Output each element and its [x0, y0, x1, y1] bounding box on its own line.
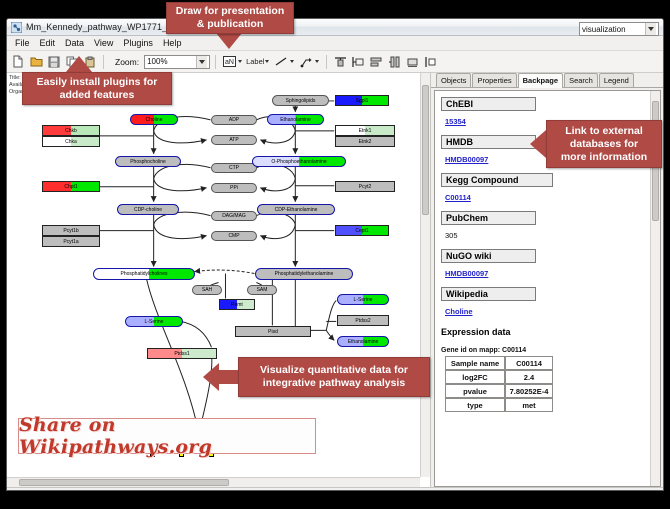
visualization-combobox[interactable]: visualization — [579, 22, 659, 36]
new-file-icon[interactable] — [10, 54, 26, 70]
order-icon[interactable] — [422, 54, 438, 70]
table-cell-value: met — [505, 398, 553, 412]
tab-backpage[interactable]: Backpage — [518, 73, 563, 88]
node-label: CDP-choline — [134, 207, 162, 213]
label-tool[interactable]: Label — [246, 57, 271, 66]
scrollbar-thumb[interactable] — [422, 85, 429, 215]
node-adp: ADP — [211, 115, 257, 125]
menu-data[interactable]: Data — [60, 37, 89, 49]
node-ppi: PPi — [211, 183, 257, 193]
node-pcyt1a[interactable]: Pcyt1a — [42, 236, 100, 247]
toolbar: Zoom: 100% aN Label — [7, 51, 663, 73]
table-cell-value: 2.4 — [505, 370, 553, 384]
node-label: CMP — [228, 233, 239, 239]
menu-file[interactable]: File — [10, 37, 35, 49]
node-sgpl1[interactable]: Sgpl1 — [335, 95, 389, 106]
save-file-icon[interactable] — [46, 54, 62, 70]
open-file-icon[interactable] — [28, 54, 44, 70]
tab-properties[interactable]: Properties — [472, 73, 516, 87]
align-left-icon[interactable] — [350, 54, 366, 70]
menu-plugins[interactable]: Plugins — [118, 37, 158, 49]
callout-line: & publication — [197, 18, 264, 31]
title-bar: Mm_Kennedy_pathway_WP1771_45176.gpml — [7, 19, 663, 36]
expression-table: Sample name C00114 log2FC 2.4 pvalue 7.8… — [445, 356, 553, 412]
canvas-horizontal-scrollbar[interactable] — [7, 477, 420, 487]
node-chkb[interactable]: Chkb — [42, 125, 100, 136]
table-cell-key: pvalue — [445, 384, 505, 398]
node-cept1[interactable]: Cept1 — [335, 225, 389, 236]
menu-view[interactable]: View — [89, 37, 118, 49]
pathvisio-app-icon — [11, 22, 22, 33]
label-tool-text: Label — [246, 57, 264, 66]
node-label: Pcyt2 — [359, 184, 372, 190]
chevron-down-icon[interactable] — [645, 23, 656, 35]
node-label: Sgpl1 — [356, 98, 369, 104]
status-bar: | Gene database: ...m_Derby_20120602.bri… — [7, 487, 663, 491]
callout-line: Visualize quantitative data for — [260, 364, 408, 377]
callout-line: Link to external — [565, 125, 643, 138]
node-ethanolamine-top[interactable]: Ethanolamine — [267, 114, 324, 125]
node-label: PPi — [230, 185, 238, 191]
pubchem-value: 305 — [445, 231, 458, 240]
wikipedia-link[interactable]: Choline — [445, 307, 473, 316]
chebi-link[interactable]: 15354 — [445, 117, 466, 126]
chevron-down-icon[interactable] — [196, 56, 207, 68]
node-label: CTP — [229, 165, 239, 171]
datanode-tool[interactable]: aN — [221, 54, 244, 70]
table-cell-key: Sample name — [445, 356, 505, 370]
toolbar-separator — [103, 55, 104, 69]
table-cell-key: log2FC — [445, 370, 505, 384]
kegg-link[interactable]: C00114 — [445, 193, 471, 202]
callout-line: integrative pathway analysis — [263, 377, 405, 390]
node-pisd[interactable]: Pisd — [235, 326, 311, 337]
node-label: Chka — [65, 139, 77, 145]
callout-visualize-arrow-icon — [203, 363, 219, 391]
callout-line: added features — [60, 89, 135, 102]
scrollbar-thumb[interactable] — [19, 479, 229, 486]
zoom-value: 100% — [147, 57, 196, 66]
table-row: pvalue 7.80252E-4 — [445, 384, 553, 398]
node-label: Chkb — [65, 128, 77, 134]
node-label: Etnk1 — [359, 128, 372, 134]
callout-line: more information — [561, 151, 647, 164]
node-label: Pcyt1b — [63, 228, 78, 234]
tab-legend[interactable]: Legend — [599, 73, 634, 87]
node-label: Chpt1 — [64, 184, 77, 190]
node-label: Choline — [146, 117, 163, 123]
section-header-nugo: NuGO wiki — [441, 249, 536, 263]
node-l-serine-left[interactable]: L-Serine — [125, 316, 183, 327]
node-cmp: CMP — [211, 231, 257, 241]
section-header-pubchem: PubChem — [441, 211, 536, 225]
node-sam: SAM — [247, 285, 277, 295]
node-label: L-Serine — [354, 297, 373, 303]
node-choline-top[interactable]: Choline — [130, 114, 178, 125]
interaction-icon[interactable] — [298, 54, 314, 70]
callout-draw: Draw for presentation & publication — [166, 2, 294, 34]
section-header-chebi: ChEBI — [441, 97, 536, 111]
node-label: Pisd — [268, 329, 278, 335]
callout-line: Draw for presentation — [176, 5, 285, 18]
node-label: Ptdss2 — [355, 318, 370, 324]
toolbar-separator — [326, 55, 327, 69]
node-ctp: CTP — [211, 163, 257, 173]
menu-help[interactable]: Help — [158, 37, 187, 49]
node-label: SAH — [202, 287, 212, 293]
table-cell-value: C00114 — [505, 356, 553, 370]
node-label: Ethanolamine — [348, 339, 379, 345]
node-label: Ethanolamine — [280, 117, 311, 123]
callout-draw-arrow-icon — [216, 33, 242, 49]
node-ptdss1[interactable]: Ptdss1 — [147, 348, 217, 359]
node-pemt[interactable]: Pemt — [219, 299, 255, 310]
node-phosphocholine[interactable]: Phosphocholine — [115, 156, 181, 167]
interaction-tool[interactable] — [298, 54, 321, 70]
node-l-serine-right[interactable]: L-Serine — [337, 294, 389, 305]
node-pcyt1b[interactable]: Pcyt1b — [42, 225, 100, 236]
node-ptdss2[interactable]: Ptdss2 — [337, 315, 389, 326]
node-dagmag: DAG/MAG — [211, 211, 257, 221]
section-header-kegg: Kegg Compound — [441, 173, 553, 187]
node-phosphatidylcholines[interactable]: Phosphatidylcholines — [93, 268, 195, 280]
svg-text:aN: aN — [225, 59, 234, 66]
canvas-vertical-scrollbar[interactable] — [420, 73, 430, 477]
node-phosphatidylethanolamine[interactable]: Phosphatidylethanolamine — [255, 268, 353, 280]
tab-objects[interactable]: Objects — [436, 73, 471, 87]
line-tool[interactable] — [273, 54, 296, 70]
table-cell-value: 7.80252E-4 — [505, 384, 553, 398]
visualization-value: visualization — [582, 25, 645, 34]
expression-data-heading: Expression data — [441, 327, 660, 337]
datanode-icon[interactable]: aN — [221, 54, 237, 70]
callout-visualize: Visualize quantitative data for integrat… — [238, 357, 430, 397]
node-label: DAG/MAG — [222, 213, 246, 219]
node-cdp-ethanolamine[interactable]: CDP-Ethanolamine — [257, 204, 335, 215]
group-icon[interactable] — [404, 54, 420, 70]
node-label: CDP-Ethanolamine — [275, 207, 318, 213]
section-header-wikipedia: Wikipedia — [441, 287, 536, 301]
menu-bar: File Edit Data View Plugins Help — [7, 36, 663, 51]
node-cdp-choline[interactable]: CDP-choline — [117, 204, 179, 215]
node-atp: ATP — [211, 135, 257, 145]
callout-links: Link to external databases for more info… — [546, 120, 662, 168]
node-pcyt2[interactable]: Pcyt2 — [335, 181, 395, 192]
node-etnk1[interactable]: Etnk1 — [335, 125, 395, 136]
table-cell-key: type — [445, 398, 505, 412]
node-label: Phosphatidylethanolamine — [275, 271, 334, 277]
node-sah: SAH — [192, 285, 222, 295]
side-panel-tabs: Objects Properties Backpage Search Legen… — [431, 73, 663, 88]
stack-icon[interactable] — [368, 54, 384, 70]
table-row: Sample name C00114 — [445, 356, 553, 370]
node-chka[interactable]: Chka — [42, 136, 100, 147]
node-label: Etnk2 — [359, 139, 372, 145]
menu-edit[interactable]: Edit — [35, 37, 61, 49]
callout-visualize-arrow-stem — [219, 370, 239, 384]
node-label: Phosphatidylcholines — [121, 271, 168, 277]
nugo-link[interactable]: HMDB00097 — [445, 269, 488, 278]
node-o-phosphoethanolamine[interactable]: O-Phosphoethanolamine — [252, 156, 346, 167]
node-etnk2[interactable]: Etnk2 — [335, 136, 395, 147]
callout-share: Share on Wikipathways.org — [18, 418, 316, 454]
node-label: Ptdss1 — [174, 351, 189, 357]
node-label: Pcyt1a — [63, 239, 78, 245]
same-width-icon[interactable] — [386, 54, 402, 70]
zoom-label: Zoom: — [115, 57, 139, 67]
node-ethanolamine-right[interactable]: Ethanolamine — [337, 336, 389, 347]
node-label: ATP — [229, 137, 238, 143]
node-label: Sphingolipids — [286, 98, 316, 104]
node-label: ADP — [229, 117, 239, 123]
share-text: Share on Wikipathways.org — [19, 414, 315, 458]
node-sphingolipids[interactable]: Sphingolipids — [272, 95, 329, 106]
table-row: log2FC 2.4 — [445, 370, 553, 384]
callout-plugins: Easily install plugins for added feature… — [22, 72, 172, 105]
node-label: O-Phosphoethanolamine — [271, 159, 326, 165]
zoom-combobox[interactable]: 100% — [144, 55, 210, 69]
align-top-icon[interactable] — [332, 54, 348, 70]
node-label: Phosphocholine — [130, 159, 166, 165]
tab-search[interactable]: Search — [564, 73, 598, 87]
hmdb-link[interactable]: HMDB00097 — [445, 155, 488, 164]
section-header-hmdb: HMDB — [441, 135, 536, 149]
table-row: type met — [445, 398, 553, 412]
callout-line: databases for — [570, 138, 638, 151]
toolbar-separator — [215, 55, 216, 69]
callout-line: Easily install plugins for — [37, 76, 158, 89]
node-chpt1[interactable]: Chpt1 — [42, 181, 100, 192]
gene-id-line: Gene id on mapp: C00114 — [441, 347, 660, 354]
line-icon[interactable] — [273, 54, 289, 70]
node-label: Cept1 — [355, 228, 368, 234]
node-label: Pemt — [231, 302, 243, 308]
node-label: L-Serine — [145, 319, 164, 325]
node-label: SAM — [257, 287, 268, 293]
